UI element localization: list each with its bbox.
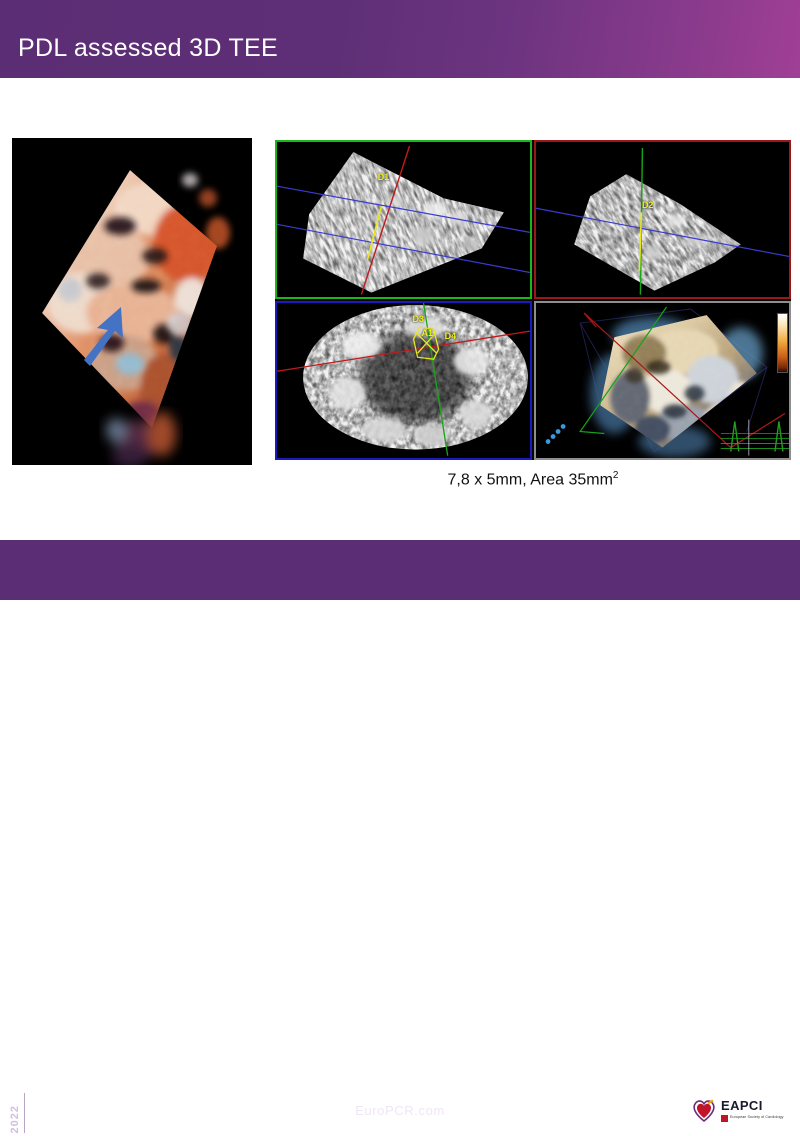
echo-cell-bottom-right[interactable] (534, 301, 791, 460)
ultrasound-image-d1 (275, 140, 532, 299)
heart-icon (691, 1097, 717, 1123)
measurement-label-a1: A1 (421, 328, 433, 338)
ultrasound-image-d2 (534, 140, 791, 299)
footer-website-url[interactable]: EuroPCR.com (0, 1103, 800, 1118)
slide-root: PDL assessed 3D TEE (0, 0, 800, 600)
left-3d-volume-panel (12, 138, 252, 465)
render-colorbar (777, 313, 788, 373)
measurement-label-d2: D2 (642, 200, 654, 210)
3d-render-image (534, 301, 791, 460)
esc-mark-icon (721, 1115, 728, 1122)
slide-header: PDL assessed 3D TEE (0, 0, 800, 78)
caption-text: 7,8 x 5mm, Area 35mm (448, 471, 613, 488)
echo-cell-top-right[interactable]: D2 (534, 140, 791, 299)
measurement-label-d3: D3 (412, 314, 424, 324)
blue-arrow-annotation-icon (12, 138, 252, 465)
eapci-text-block: EAPCI European Society of Cardiology (721, 1099, 784, 1122)
ultrasound-image-d3-a1-d4 (275, 301, 532, 460)
eapci-subtitle: European Society of Cardiology (730, 1116, 784, 1120)
slide-footer: 2022 euro PCR EuroPCR.com EAPCI Europ (0, 540, 800, 600)
echo-cell-bottom-left[interactable]: D3 A1 D4 (275, 301, 532, 460)
caption-superscript: 2 (613, 470, 619, 481)
measurement-label-d1: D1 (378, 172, 390, 182)
echo-cell-top-left[interactable]: D1 (275, 140, 532, 299)
page-title: PDL assessed 3D TEE (18, 34, 278, 63)
eapci-name: EAPCI (721, 1099, 784, 1112)
quad-echo-panel: D1 (275, 140, 791, 460)
eapci-logo: EAPCI European Society of Cardiology (686, 1091, 790, 1129)
measurement-caption: 7,8 x 5mm, Area 35mm2 (275, 470, 791, 489)
measurement-label-d4: D4 (445, 331, 457, 341)
eapci-subtitle-row: European Society of Cardiology (721, 1115, 784, 1122)
